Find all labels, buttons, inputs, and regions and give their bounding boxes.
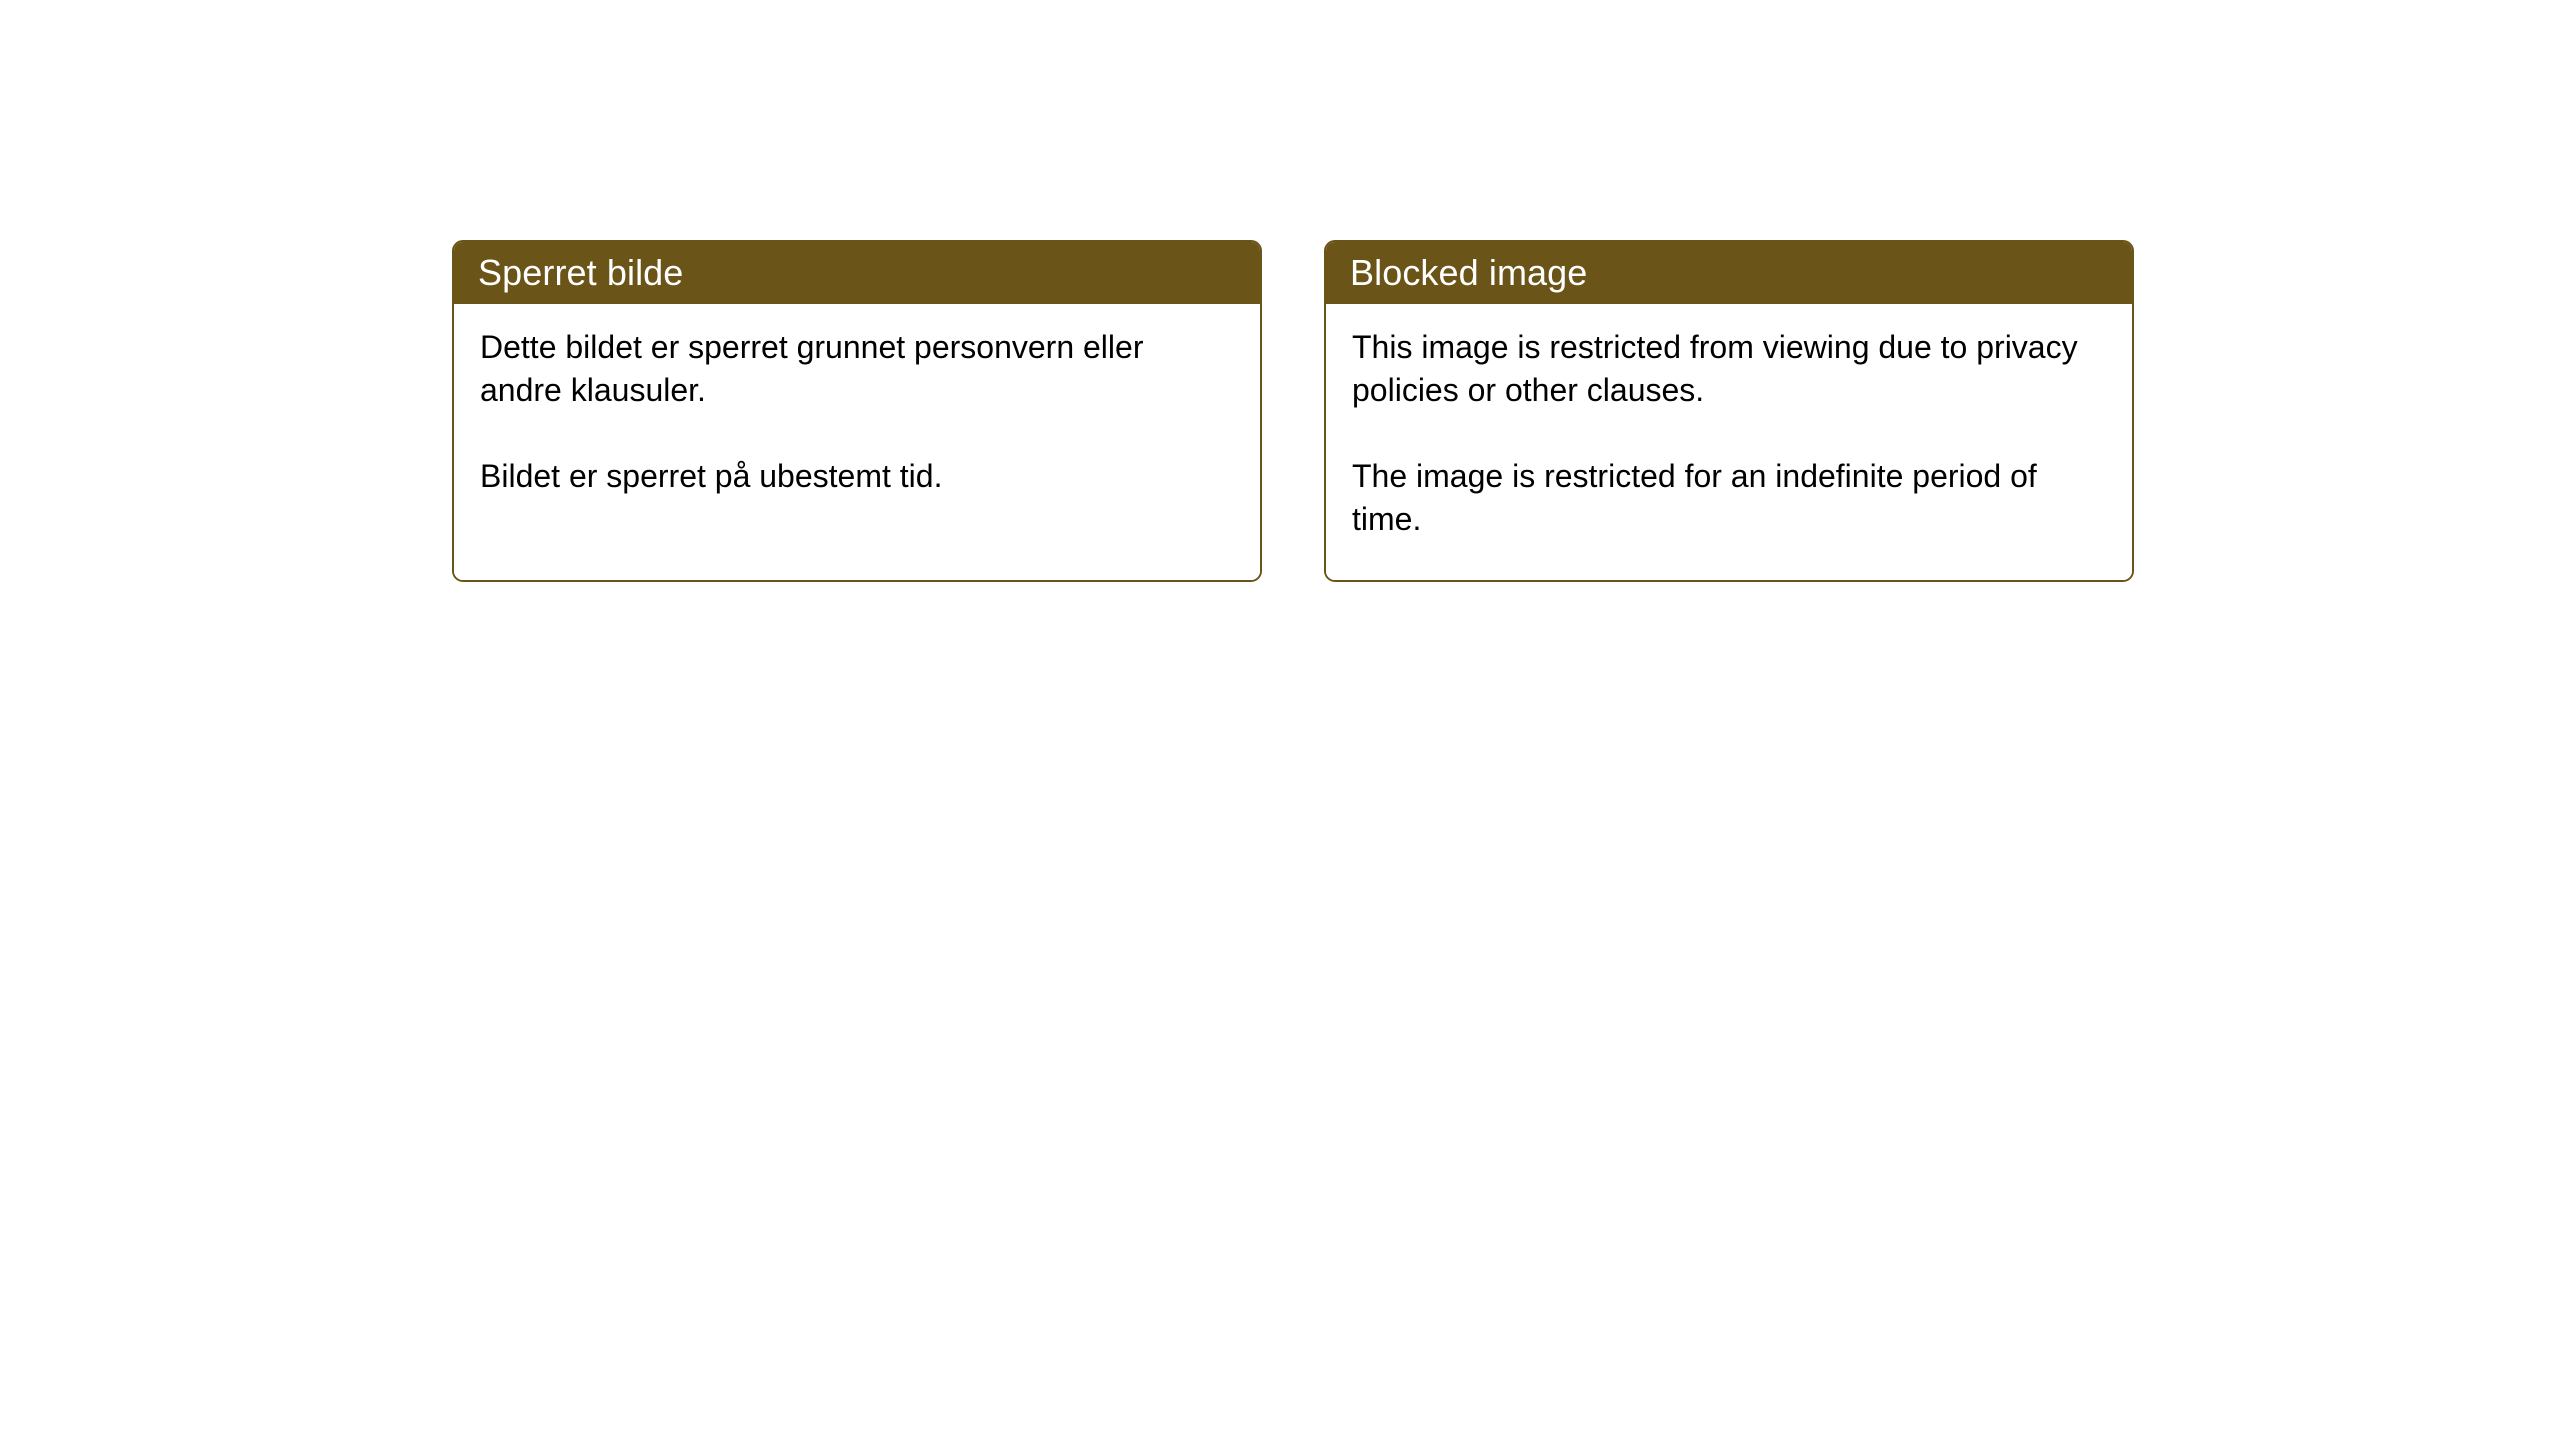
notice-paragraph-duration-english: The image is restricted for an indefinit… [1352, 455, 2082, 541]
blocked-image-notice-group: Sperret bilde Dette bildet er sperret gr… [452, 240, 2134, 582]
notice-header-norwegian: Sperret bilde [454, 242, 1260, 304]
notice-paragraph-reason-norwegian: Dette bildet er sperret grunnet personve… [480, 326, 1210, 412]
notice-header-english: Blocked image [1326, 242, 2132, 304]
notice-title-norwegian: Sperret bilde [478, 255, 683, 291]
notice-paragraph-duration-norwegian: Bildet er sperret på ubestemt tid. [480, 455, 1210, 498]
notice-body-norwegian: Dette bildet er sperret grunnet personve… [454, 304, 1260, 580]
notice-title-english: Blocked image [1350, 255, 1587, 291]
blocked-image-notice-english: Blocked image This image is restricted f… [1324, 240, 2134, 582]
notice-body-english: This image is restricted from viewing du… [1326, 304, 2132, 580]
notice-paragraph-reason-english: This image is restricted from viewing du… [1352, 326, 2082, 412]
blocked-image-notice-norwegian: Sperret bilde Dette bildet er sperret gr… [452, 240, 1262, 582]
